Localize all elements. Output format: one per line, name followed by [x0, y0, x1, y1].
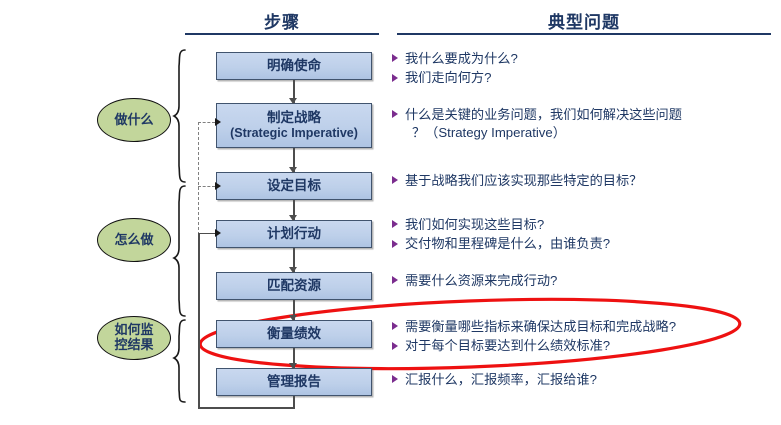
feedback-loop-vertical	[198, 234, 200, 409]
bullet-triangle-icon	[392, 220, 398, 228]
connector-arrow-6-7	[293, 348, 295, 368]
diagram-canvas: 步骤 典型问题 明确使命 制定战略 (Strategic Imperative)…	[0, 0, 781, 425]
feedback-loop-horizontal	[198, 407, 295, 409]
question-item: 基于战略我们应该实现那些特定的目标？	[392, 172, 777, 190]
question-item: 需要衡量哪些指标来确保达成目标和完成战略?	[392, 318, 777, 336]
question-text: 基于战略我们应该实现那些特定的目标？	[405, 173, 642, 188]
step-box-5[interactable]: 匹配资源	[216, 272, 372, 300]
question-item: 我们如何实现这些目标?	[392, 216, 777, 234]
question-text: 什么是关键的业务问题，我们如何解决这些问题	[405, 107, 682, 122]
step-box-7-label: 管理报告	[267, 374, 321, 390]
step-box-7[interactable]: 管理报告	[216, 368, 372, 396]
bracket-phase-3	[174, 320, 185, 402]
bullet-triangle-icon	[392, 276, 398, 284]
question-item: 汇报什么，汇报频率，汇报给谁?	[392, 371, 777, 389]
question-group-4: 我们如何实现这些目标? 交付物和里程碑是什么，由谁负责?	[392, 216, 777, 254]
connector-arrow-3-4	[293, 200, 295, 220]
phase-ellipse-monitor-line1: 如何监	[114, 323, 153, 338]
step-box-2-sublabel: (Strategic Imperative)	[230, 126, 358, 141]
step-box-4[interactable]: 计划行动	[216, 220, 372, 248]
question-text: 我们走向何方?	[405, 70, 491, 85]
question-item: 交付物和里程碑是什么，由谁负责?	[392, 235, 777, 253]
question-text: 对于每个目标要达到什么绩效标准?	[405, 338, 610, 353]
question-item: 我们走向何方?	[392, 69, 777, 87]
question-group-5: 需要什么资源来完成行动?	[392, 272, 777, 291]
question-text: 需要衡量哪些指标来确保达成目标和完成战略?	[405, 319, 676, 334]
step-box-4-label: 计划行动	[267, 226, 321, 242]
question-text: 我什么要成为什么?	[405, 51, 518, 66]
column-header-steps: 步骤	[185, 8, 379, 33]
column-header-questions: 典型问题	[397, 8, 771, 33]
step-box-6[interactable]: 衡量绩效	[216, 320, 372, 348]
question-item: 我什么要成为什么?	[392, 50, 777, 68]
step-box-2[interactable]: 制定战略 (Strategic Imperative)	[216, 103, 372, 148]
dashed-arrow-to-step-3	[198, 186, 215, 187]
question-group-1: 我什么要成为什么? 我们走向何方?	[392, 50, 777, 88]
question-item: 需要什么资源来完成行动?	[392, 272, 777, 290]
dashed-arrow-to-step-2	[198, 122, 215, 123]
question-group-6: 需要衡量哪些指标来确保达成目标和完成战略? 对于每个目标要达到什么绩效标准?	[392, 318, 777, 356]
phase-ellipse-what-line1: 做什么	[114, 113, 153, 128]
question-text-continued: ？（Strategy Imperative）	[405, 124, 777, 142]
question-group-7: 汇报什么，汇报频率，汇报给谁?	[392, 371, 777, 390]
question-text: 交付物和里程碑是什么，由谁负责?	[405, 236, 610, 251]
column-header-questions-underline	[397, 33, 771, 35]
bullet-triangle-icon	[392, 375, 398, 383]
step-box-1[interactable]: 明确使命	[216, 52, 372, 80]
column-header-steps-underline	[185, 33, 379, 35]
step-box-3-label: 设定目标	[267, 178, 321, 194]
question-group-3: 基于战略我们应该实现那些特定的目标？	[392, 172, 777, 191]
feedback-loop-riser	[293, 396, 295, 408]
bracket-phase-2	[174, 186, 185, 316]
phase-ellipse-monitor-line2: 控结果	[114, 338, 153, 353]
bullet-triangle-icon	[392, 74, 398, 82]
feedback-arrow-to-step-4	[198, 233, 215, 234]
connector-arrow-5-6	[293, 300, 295, 320]
phase-ellipse-what[interactable]: 做什么	[97, 98, 171, 142]
step-box-2-label: 制定战略	[267, 110, 321, 126]
step-box-5-label: 匹配资源	[267, 278, 321, 294]
phase-ellipse-monitor[interactable]: 如何监 控结果	[97, 316, 171, 360]
phase-ellipse-how-line1: 怎么做	[114, 233, 153, 248]
question-item: 什么是关键的业务问题，我们如何解决这些问题 ？（Strategy Imperat…	[392, 106, 777, 142]
connector-arrow-2-3	[293, 148, 295, 172]
connector-arrow-4-5	[293, 248, 295, 272]
question-group-2: 什么是关键的业务问题，我们如何解决这些问题 ？（Strategy Imperat…	[392, 106, 777, 143]
question-text: 需要什么资源来完成行动?	[405, 273, 557, 288]
step-box-3[interactable]: 设定目标	[216, 172, 372, 200]
dashed-feedback-spine	[198, 122, 199, 235]
bullet-triangle-icon	[392, 342, 398, 350]
phase-ellipse-how[interactable]: 怎么做	[97, 218, 171, 262]
bullet-triangle-icon	[392, 110, 398, 118]
step-box-1-label: 明确使命	[267, 58, 321, 74]
question-text: 汇报什么，汇报频率，汇报给谁?	[405, 372, 597, 387]
question-text: 我们如何实现这些目标?	[405, 217, 544, 232]
bracket-phase-1	[174, 50, 185, 182]
step-box-6-label: 衡量绩效	[267, 326, 321, 342]
connector-arrow-1-2	[293, 80, 295, 103]
question-item: 对于每个目标要达到什么绩效标准?	[392, 337, 777, 355]
bullet-triangle-icon	[392, 176, 398, 184]
bullet-triangle-icon	[392, 240, 398, 248]
bullet-triangle-icon	[392, 54, 398, 62]
bullet-triangle-icon	[392, 322, 398, 330]
